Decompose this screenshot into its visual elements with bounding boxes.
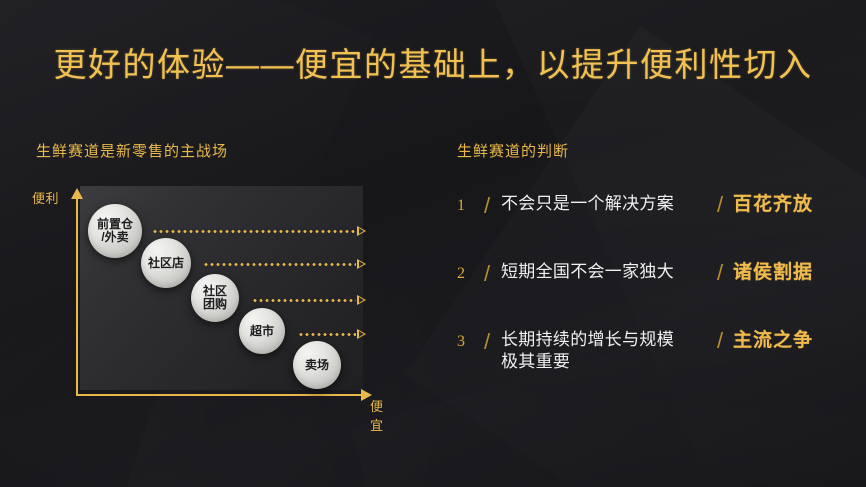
arrow-head-notch [359,297,364,303]
judgement-conclusion-tag: 诸侯割据 [733,261,813,285]
left-section-heading: 生鲜赛道是新零售的主战场 [36,140,228,161]
arrow-head-notch [359,261,364,267]
x-axis-line [76,394,364,396]
chart-bubble: 社区店 [141,238,191,288]
judgement-conclusion-tag: 主流之争 [733,329,813,353]
y-axis-arrow-icon [71,188,83,199]
dotted-arrow-icon [298,329,364,339]
chart-bubble: 前置仓/外卖 [88,204,142,258]
slide-canvas: 更好的体验——便宜的基础上，以提升便利性切入 生鲜赛道是新零售的主战场 生鲜赛道… [0,0,866,487]
judgement-separator-left: / [473,261,501,287]
dotted-arrow-icon [152,226,364,236]
judgement-row: 3/长期持续的增长与规模极其重要/主流之争 [457,329,837,373]
judgement-separator-left: / [473,193,501,219]
slide-title: 更好的体验——便宜的基础上，以提升便利性切入 [0,38,866,86]
dotted-line [152,230,356,233]
x-axis-label: 便宜 [370,396,396,434]
dotted-arrow-icon [252,295,364,305]
dotted-line [203,263,356,266]
chart-bubble-label: 社区店 [148,257,184,270]
judgement-statement-line2: 极其重要 [501,351,707,373]
chart-bubble-label: 超市 [250,325,274,338]
judgement-row: 2/短期全国不会一家独大/诸侯割据 [457,261,837,287]
judgement-statement: 短期全国不会一家独大 [501,261,707,283]
dotted-line [298,333,356,336]
judgement-statement: 不会只是一个解决方案 [501,193,707,215]
chart-bubble: 社区团购 [191,274,239,322]
chart-bubble: 超市 [239,308,285,354]
judgement-row: 1/不会只是一个解决方案/百花齐放 [457,193,837,219]
positioning-chart: 便利 便宜 前置仓/外卖社区店社区团购超市卖场 [36,180,396,420]
chart-bubble-label: 卖场 [305,359,329,372]
chart-bubble-label-line2: /外卖 [97,231,133,244]
arrow-head-notch [359,228,364,234]
judgement-number: 2 [457,261,473,287]
judgement-separator-right: / [707,261,733,285]
judgement-statement: 长期持续的增长与规模极其重要 [501,329,707,373]
judgement-statement-line1: 不会只是一个解决方案 [501,194,674,213]
dotted-arrow-icon [203,259,364,269]
y-axis-label: 便利 [32,188,59,207]
dotted-line [252,299,356,302]
judgement-separator-right: / [707,329,733,353]
judgement-number: 3 [457,329,473,355]
judgement-separator-right: / [707,193,733,217]
judgement-statement-line1: 长期持续的增长与规模 [501,330,674,349]
judgement-number: 1 [457,193,473,219]
arrow-head-notch [359,331,364,337]
y-axis-line [76,196,78,396]
judgement-statement-line1: 短期全国不会一家独大 [501,262,674,281]
chart-bubble-label-line2: 团购 [203,298,227,311]
chart-bubble: 卖场 [293,341,341,389]
judgement-separator-left: / [473,329,501,355]
right-section-heading: 生鲜赛道的判断 [457,140,569,161]
judgement-conclusion-tag: 百花齐放 [733,193,813,217]
